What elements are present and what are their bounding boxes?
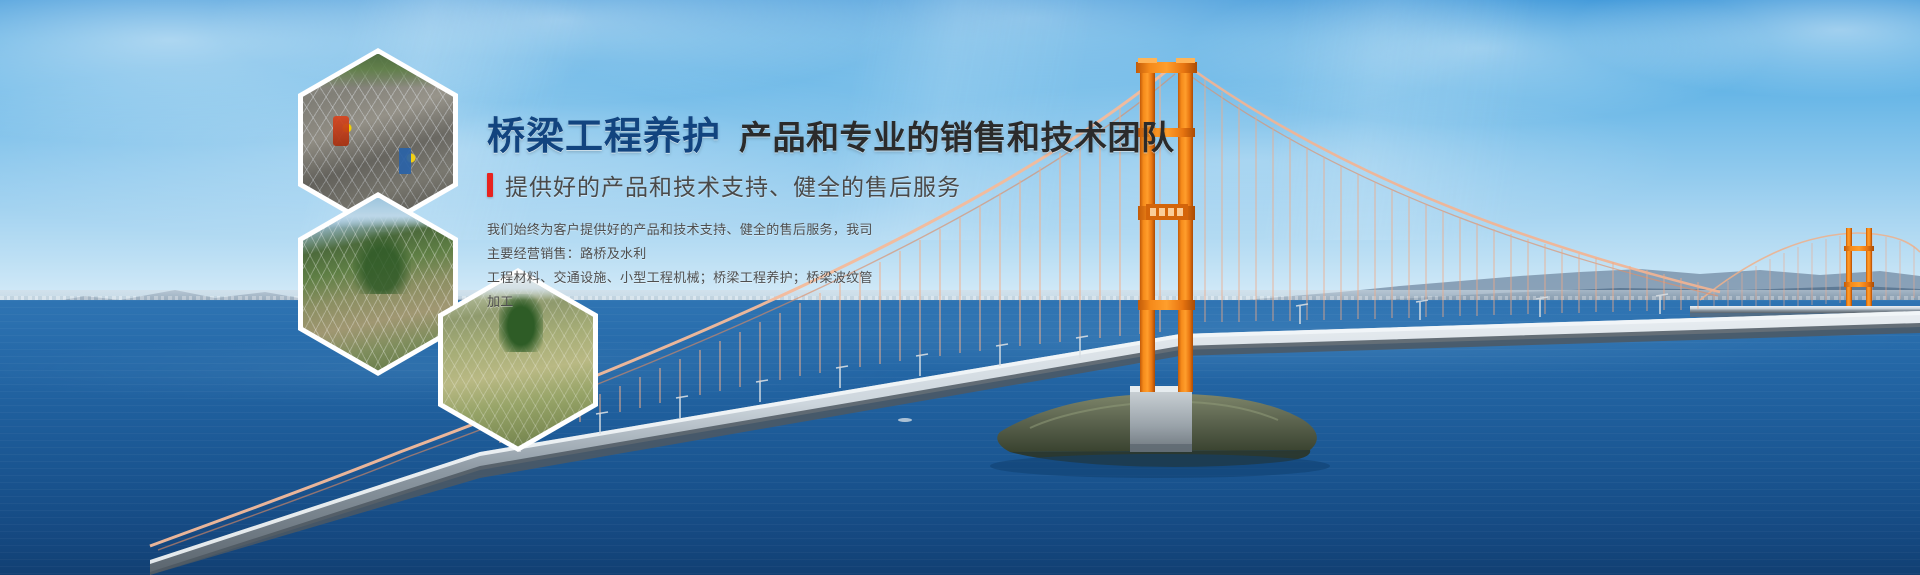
headline-highlight: 桥梁工程养护	[487, 118, 721, 156]
hero-banner: 桥梁工程养护 产品和专业的销售和技术团队 提供好的产品和技术支持、健全的售后服务…	[0, 0, 1920, 575]
banner-description-line-2: 工程材料、交通设施、小型工程机械；桥梁工程养护；桥梁波纹管加工	[487, 266, 879, 314]
banner-description-line-1: 我们始终为客户提供好的产品和技术支持、健全的售后服务，我司主要经营销售：路桥及水…	[487, 218, 879, 266]
banner-description: 我们始终为客户提供好的产品和技术支持、健全的售后服务，我司主要经营销售：路桥及水…	[487, 218, 879, 314]
red-accent-bar-icon	[487, 173, 493, 197]
banner-subtitle: 提供好的产品和技术支持、健全的售后服务	[505, 168, 961, 202]
headline-rest: 产品和专业的销售和技术团队	[739, 121, 1175, 154]
hex-photo-2[interactable]	[298, 192, 458, 376]
green-hillside-netting-photo	[303, 198, 453, 371]
banner-headline: 桥梁工程养护 产品和专业的销售和技术团队	[487, 118, 1207, 156]
banner-subtitle-row: 提供好的产品和技术支持、健全的售后服务	[487, 168, 1207, 202]
hex-photo-2-clip	[303, 198, 453, 371]
banner-text-block: 桥梁工程养护 产品和专业的销售和技术团队 提供好的产品和技术支持、健全的售后服务…	[487, 118, 1207, 314]
